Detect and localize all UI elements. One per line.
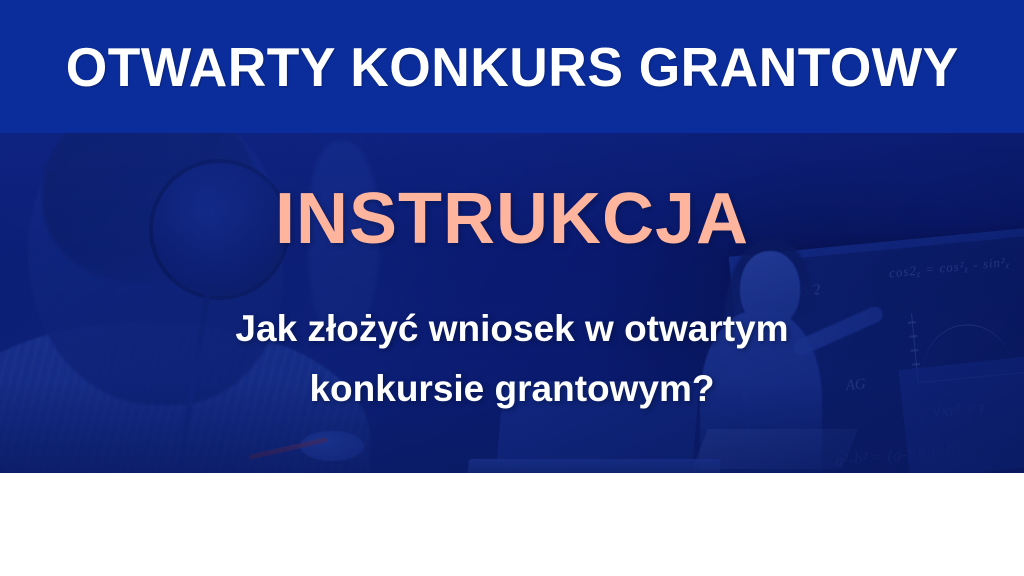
page-title: OTWARTY KONKURS GRANTOWY	[66, 35, 959, 99]
header-band: OTWARTY KONKURS GRANTOWY	[0, 0, 1024, 133]
background-photo: π 0+ψ/2 cos2ᵪ = cos²ᵪ - sin²ᵪ x = = 0 AG…	[0, 133, 1024, 473]
footer-logo-bar	[0, 473, 1024, 576]
hero-section: π 0+ψ/2 cos2ᵪ = cos²ᵪ - sin²ᵪ x = = 0 AG…	[0, 133, 1024, 473]
poster-root: OTWARTY KONKURS GRANTOWY π 0+ψ/2 cos2ᵪ =…	[0, 0, 1024, 576]
photo-gradient-overlay	[0, 133, 1024, 473]
